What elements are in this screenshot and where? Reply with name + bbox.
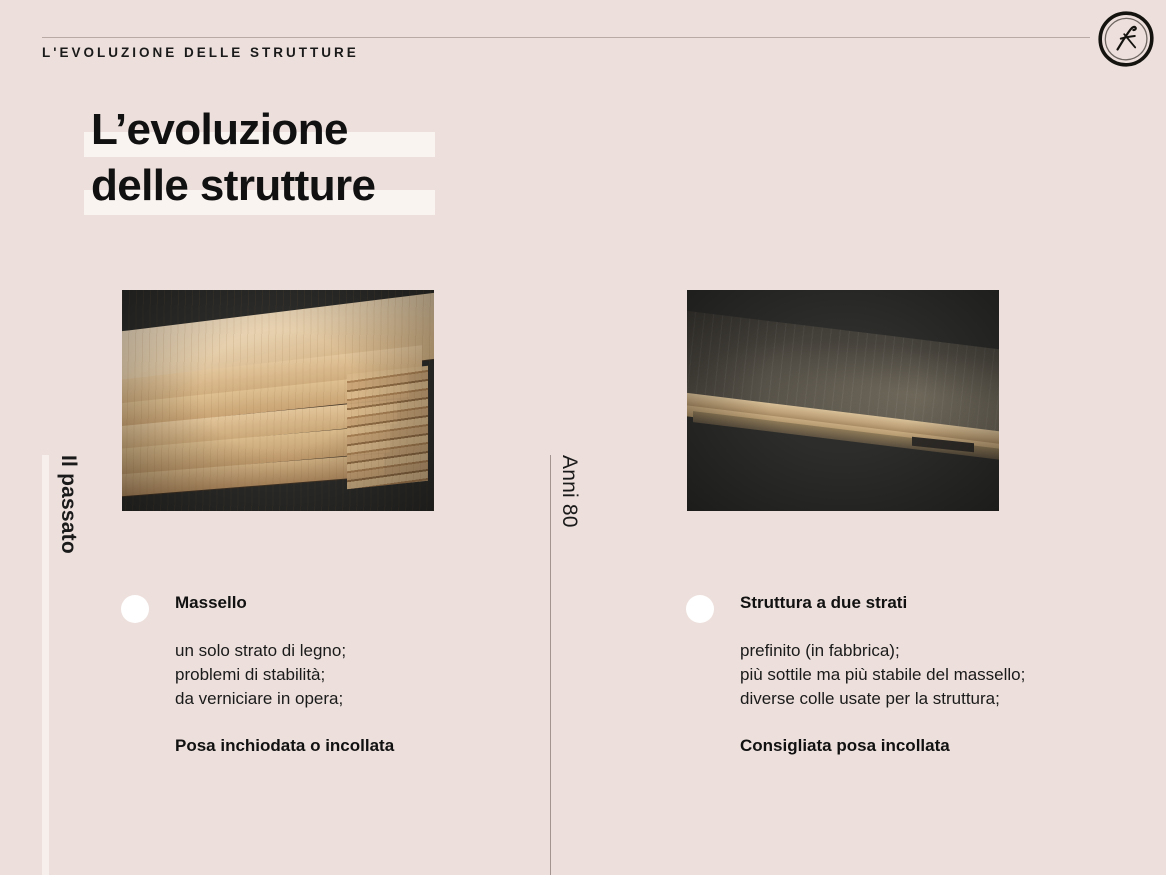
column-eighties-body-line-1: prefinito (in fabbrica); [740, 639, 1140, 663]
column-past-body: un solo strato di legno; problemi di sta… [175, 639, 515, 711]
column-past: Il passato Massello un solo [0, 0, 550, 875]
column-past-text: Massello un solo strato di legno; proble… [175, 592, 515, 757]
column-past-footer: Posa inchiodata o incollata [175, 735, 515, 757]
circle-bullet-icon-2 [686, 595, 714, 623]
column-eighties-body: prefinito (in fabbrica); più sottile ma … [740, 639, 1140, 711]
column-eighties-footer: Consigliata posa incollata [740, 735, 1140, 757]
circle-bullet-icon-1 [121, 595, 149, 623]
column-eighties-heading: Struttura a due strati [740, 592, 1140, 614]
photo-two-layer-plank [687, 290, 999, 511]
column-past-heading: Massello [175, 592, 515, 614]
column-eighties-body-line-3: diverse colle usate per la struttura; [740, 687, 1140, 711]
column-past-body-line-1: un solo strato di legno; [175, 639, 515, 663]
column-eighties-body-line-2: più sottile ma più stabile del massello; [740, 663, 1140, 687]
column-eighties-side-label: Anni 80 [557, 455, 581, 528]
photo-solid-wood-planks [122, 290, 434, 511]
column-past-side-label: Il passato [56, 455, 80, 554]
column-eighties: Anni 80 Struttura a due strati prefinito… [550, 0, 1166, 875]
column-eighties-divider [550, 455, 551, 875]
column-past-accent-bar [42, 455, 49, 875]
column-eighties-text: Struttura a due strati prefinito (in fab… [740, 592, 1140, 757]
slide-root: L'EVOLUZIONE DELLE STRUTTURE L’evoluzion… [0, 0, 1166, 875]
column-past-body-line-2: problemi di stabilità; [175, 663, 515, 687]
column-past-body-line-3: da verniciare in opera; [175, 687, 515, 711]
